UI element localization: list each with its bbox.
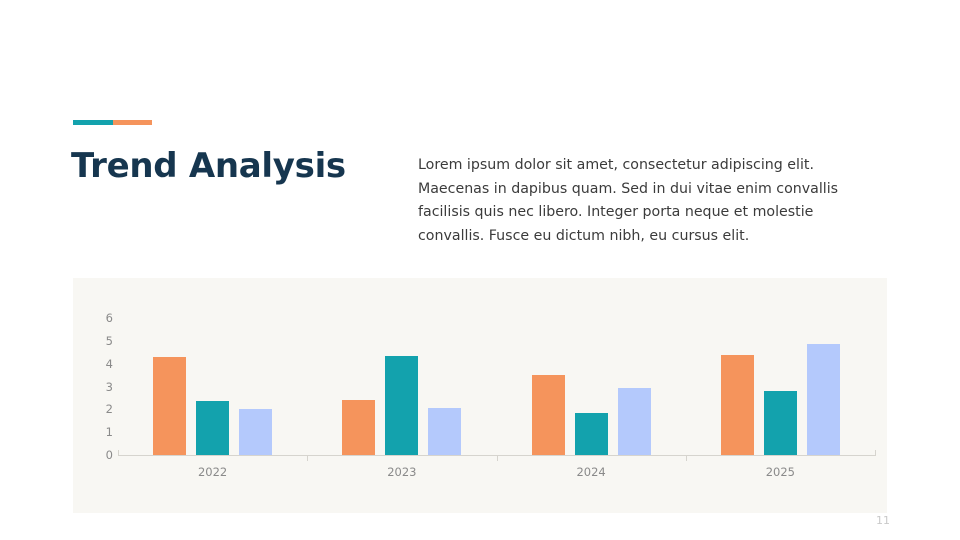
- page-number: 11: [876, 514, 890, 527]
- x-axis-tick: [497, 456, 498, 461]
- accent-bar-orange-segment: [113, 120, 153, 125]
- x-axis-end-tick: [875, 450, 876, 456]
- x-axis-tick: [686, 456, 687, 461]
- chart-bar[interactable]: [342, 400, 375, 455]
- y-axis-tick-label: 2: [95, 402, 113, 416]
- chart-bar[interactable]: [807, 344, 840, 455]
- x-axis-tick: [307, 456, 308, 461]
- y-axis: 0123456: [95, 318, 113, 458]
- chart-bar[interactable]: [575, 413, 608, 455]
- chart-bar[interactable]: [428, 408, 461, 455]
- y-axis-tick-label: 6: [95, 311, 113, 325]
- chart-bar[interactable]: [618, 388, 651, 455]
- x-axis-category-label: 2022: [198, 465, 227, 479]
- page-title: Trend Analysis: [71, 148, 346, 185]
- y-axis-tick-label: 3: [95, 380, 113, 394]
- y-axis-tick-label: 4: [95, 357, 113, 371]
- bar-group: [497, 318, 686, 455]
- bar-group: [307, 318, 496, 455]
- chart-bar[interactable]: [239, 409, 272, 455]
- y-axis-tick-label: 1: [95, 425, 113, 439]
- y-axis-tick-label: 5: [95, 334, 113, 348]
- accent-bar: [73, 120, 152, 125]
- x-axis-category-label: 2024: [576, 465, 605, 479]
- plot-region: [118, 318, 875, 455]
- bar-group: [686, 318, 875, 455]
- chart-bar[interactable]: [153, 357, 186, 455]
- x-axis-category-label: 2025: [766, 465, 795, 479]
- x-axis-category-label: 2023: [387, 465, 416, 479]
- chart-panel: 0123456 2022202320242025: [73, 278, 887, 513]
- accent-bar-teal-segment: [73, 120, 113, 125]
- bar-chart: 0123456 2022202320242025: [73, 278, 887, 513]
- chart-bar[interactable]: [764, 391, 797, 455]
- chart-bar[interactable]: [196, 401, 229, 455]
- y-axis-tick-label: 0: [95, 448, 113, 462]
- body-paragraph: Lorem ipsum dolor sit amet, consectetur …: [418, 154, 858, 248]
- chart-bar[interactable]: [532, 375, 565, 455]
- x-axis-end-tick: [118, 450, 119, 456]
- chart-bar[interactable]: [385, 356, 418, 455]
- chart-bar[interactable]: [721, 355, 754, 455]
- bar-group: [118, 318, 307, 455]
